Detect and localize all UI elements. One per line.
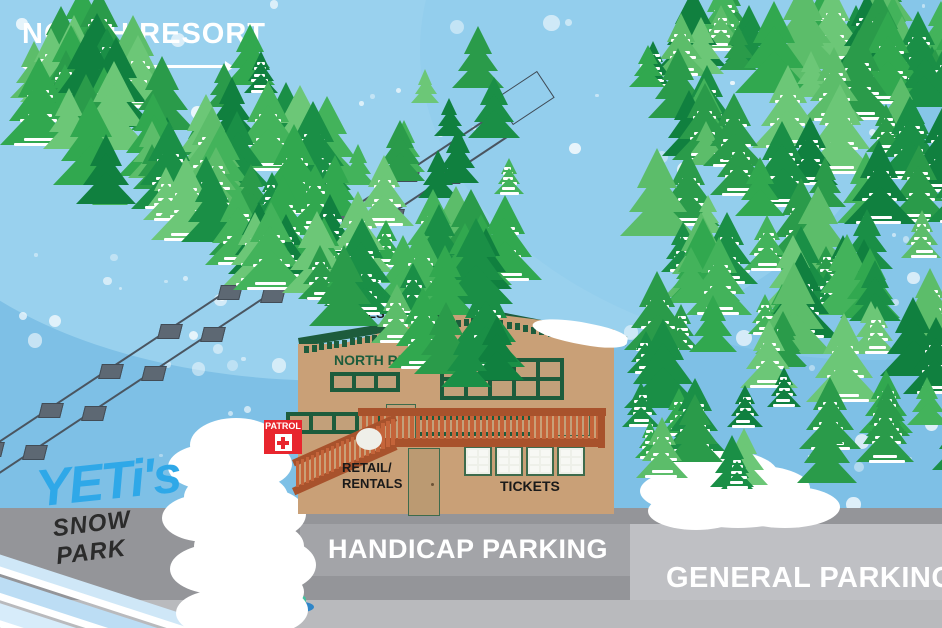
chairlift-chair [98, 364, 124, 379]
tree-snow [873, 455, 897, 458]
tree-snow [776, 399, 790, 402]
pine-tree [797, 412, 859, 483]
general-parking-label: GENERAL PARKING [666, 562, 942, 595]
tree-snow [730, 481, 743, 484]
snow-clump [356, 428, 382, 450]
tree-snow [645, 475, 678, 478]
pine-tree [856, 394, 915, 462]
chairlift-chair [38, 403, 64, 418]
chairlift-chair [141, 366, 167, 381]
tickets-label: TICKETS [500, 478, 560, 494]
pine-tree [767, 367, 802, 408]
tree-snow [727, 486, 748, 489]
tree-snow [652, 470, 673, 473]
tree-snow [736, 420, 751, 423]
pine-tree [901, 210, 942, 258]
stair-baluster [296, 461, 300, 487]
stair-baluster [336, 443, 340, 469]
snow-blob [648, 492, 744, 530]
stair-baluster [301, 459, 305, 485]
tree-snow [773, 404, 795, 407]
pine-tree [309, 245, 379, 326]
tree-snow [869, 460, 905, 463]
pine-tree [441, 328, 493, 388]
chairlift-chair [0, 442, 5, 457]
pine-tree [727, 385, 764, 427]
pine-tree [636, 417, 689, 478]
ski-patrol-sign[interactable]: PATROL [264, 420, 302, 454]
tree-snow [916, 250, 933, 253]
red-cross-icon [275, 434, 292, 451]
stair-baluster [331, 446, 335, 472]
pine-tree [721, 451, 754, 490]
snow-blob [730, 486, 840, 528]
tree-snow [911, 255, 937, 258]
retail-label-line1: RETAIL/ [342, 460, 392, 475]
stair-baluster [311, 455, 315, 481]
stair-baluster [386, 421, 390, 447]
pine-tree [932, 394, 942, 471]
yetis-snow-park-logo: YETi's SNOW PARK [36, 452, 206, 538]
stair-baluster [306, 457, 310, 483]
stair-baluster [391, 419, 395, 445]
stair-baluster [316, 452, 320, 478]
stair-baluster [321, 450, 325, 476]
stair-baluster [326, 448, 330, 474]
resort-trail-map: HANDICAP PARKING GENERAL PARKING NORTH R… [0, 0, 942, 628]
chairlift-chair [200, 327, 226, 342]
chairlift-chair [157, 324, 183, 339]
stair-baluster [351, 437, 355, 463]
retail-label-line2: RENTALS [342, 476, 402, 491]
chairlift-chair [82, 406, 108, 421]
patrol-label: PATROL [264, 420, 302, 433]
tree-snow [732, 425, 755, 428]
pine-tree [76, 134, 138, 205]
